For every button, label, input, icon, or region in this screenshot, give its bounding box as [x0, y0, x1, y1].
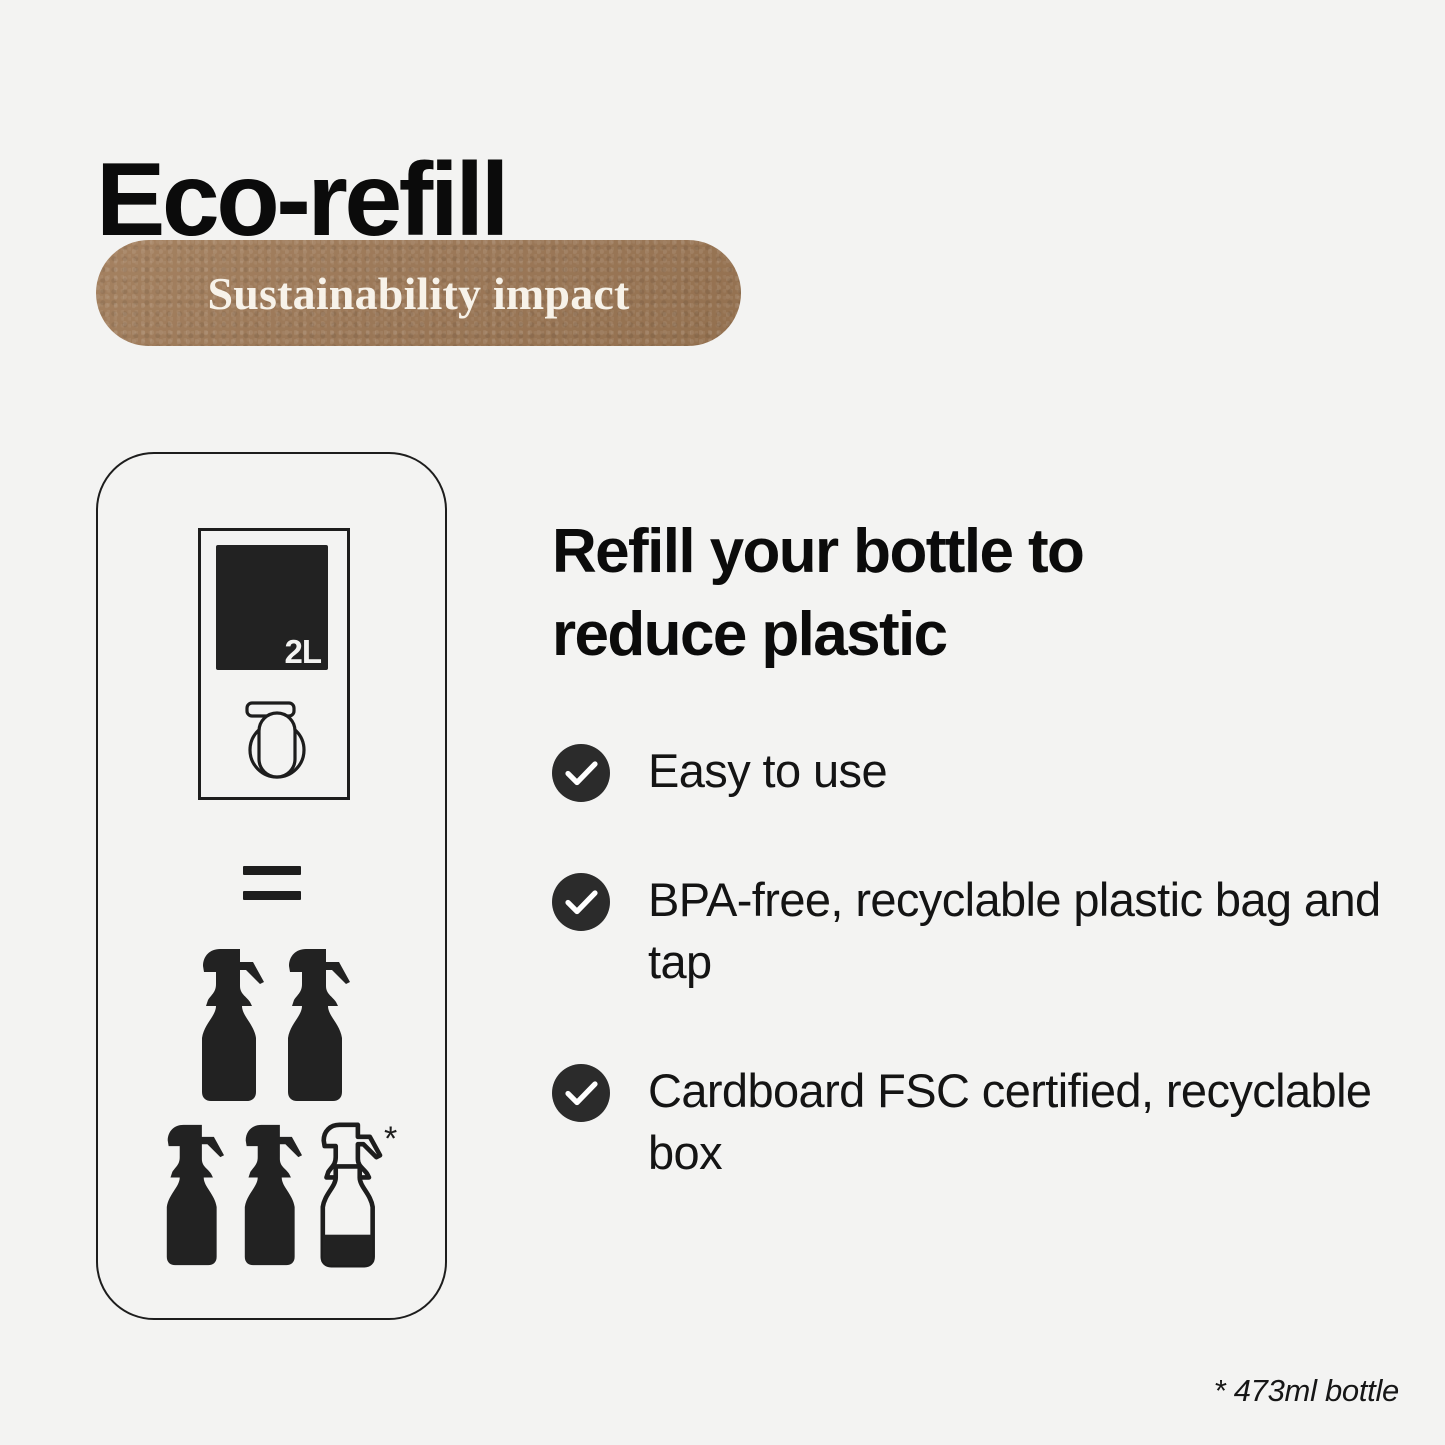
feature-label: Cardboard FSC certified, recyclable box: [648, 1060, 1382, 1185]
badge-label: Sustainability impact: [207, 267, 629, 320]
list-item: Cardboard FSC certified, recyclable box: [552, 1060, 1382, 1185]
footnote: * 473ml bottle: [1214, 1373, 1399, 1409]
spray-bottle-icon: [155, 1120, 227, 1270]
sustainability-impact-badge: Sustainability impact: [96, 240, 741, 346]
headline: Refill your bottle to reduce plastic: [552, 510, 1272, 676]
content-column: Refill your bottle to reduce plastic Eas…: [552, 510, 1382, 1185]
box-label-panel: 2L: [216, 545, 328, 670]
spray-bottle-icon: [233, 1120, 305, 1270]
equals-bar-bottom: [243, 891, 301, 900]
feature-label: Easy to use: [648, 740, 887, 803]
eco-refill-infographic: Eco-refill Sustainability impact 2L: [0, 0, 1445, 1445]
asterisk-marker: *: [384, 1122, 397, 1156]
spray-bottle-icon: [276, 944, 354, 1106]
bottle-row-three: [155, 1120, 383, 1270]
check-circle-icon: [552, 744, 610, 802]
list-item: BPA-free, recyclable plastic bag and tap: [552, 869, 1382, 994]
page-title: Eco-refill: [96, 148, 506, 252]
equals-symbol: [243, 866, 301, 900]
spray-bottle-outline-icon: [311, 1120, 383, 1270]
tap-icon: [235, 697, 319, 785]
box-volume-label: 2L: [284, 635, 321, 668]
bottle-row-two: [190, 944, 354, 1106]
equals-bar-top: [243, 866, 301, 875]
spray-bottle-icon: [190, 944, 268, 1106]
list-item: Easy to use: [552, 740, 1382, 803]
check-circle-icon: [552, 873, 610, 931]
refill-illustration-card: 2L: [96, 452, 447, 1320]
feature-list: Easy to use BPA-free, recyclable plastic…: [552, 740, 1382, 1185]
check-circle-icon: [552, 1064, 610, 1122]
feature-label: BPA-free, recyclable plastic bag and tap: [648, 869, 1382, 994]
refill-box-graphic: 2L: [198, 528, 350, 800]
